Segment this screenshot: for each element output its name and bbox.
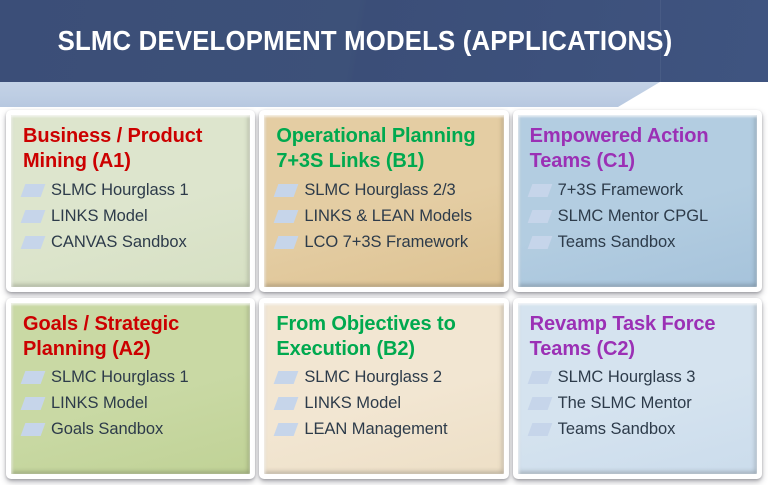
list-item[interactable]: LINKS & LEAN Models: [272, 203, 497, 229]
list-item-label: LINKS Model: [51, 207, 148, 226]
list-item-label: LINKS Model: [51, 394, 148, 413]
parallelogram-bullet-icon: [21, 236, 46, 249]
model-card-b2[interactable]: From Objectives to Execution (B2)SLMC Ho…: [259, 298, 508, 480]
list-item-label: LINKS & LEAN Models: [304, 207, 472, 226]
list-item-label: Teams Sandbox: [558, 420, 676, 439]
list-item-label: SLMC Hourglass 1: [51, 181, 189, 200]
card-bullet-list-c1: 7+3S FrameworkSLMC Mentor CPGLTeams Sand…: [526, 177, 751, 255]
model-card-b1[interactable]: Operational Planning 7+3S Links (B1)SLMC…: [259, 110, 508, 292]
model-card-c2[interactable]: Revamp Task Force Teams (C2)SLMC Hourgla…: [513, 298, 762, 480]
header-banner: SLMC DEVELOPMENT MODELS (APPLICATIONS): [0, 0, 768, 82]
list-item-label: The SLMC Mentor: [558, 394, 692, 413]
list-item[interactable]: LINKS Model: [19, 203, 244, 229]
card-bullet-list-a1: SLMC Hourglass 1LINKS ModelCANVAS Sandbo…: [19, 177, 244, 255]
parallelogram-bullet-icon: [274, 423, 299, 436]
model-card-c1[interactable]: Empowered Action Teams (C1)7+3S Framewor…: [513, 110, 762, 292]
parallelogram-bullet-icon: [21, 184, 46, 197]
card-body-a1: Business / Product Mining (A1)SLMC Hourg…: [11, 115, 250, 287]
list-item[interactable]: SLMC Hourglass 3: [526, 365, 751, 391]
model-card-a1[interactable]: Business / Product Mining (A1)SLMC Hourg…: [6, 110, 255, 292]
list-item-label: LCO 7+3S Framework: [304, 233, 468, 252]
card-bullet-list-a2: SLMC Hourglass 1LINKS ModelGoals Sandbox: [19, 365, 244, 443]
list-item-label: 7+3S Framework: [558, 181, 683, 200]
page-title: SLMC DEVELOPMENT MODELS (APPLICATIONS): [29, 0, 701, 82]
list-item[interactable]: SLMC Hourglass 2/3: [272, 177, 497, 203]
parallelogram-bullet-icon: [527, 423, 552, 436]
list-item-label: LEAN Management: [304, 420, 447, 439]
parallelogram-bullet-icon: [21, 397, 46, 410]
card-title-a2: Goals / Strategic Planning (A2): [23, 312, 244, 362]
parallelogram-bullet-icon: [21, 210, 46, 223]
parallelogram-bullet-icon: [274, 210, 299, 223]
card-body-c1: Empowered Action Teams (C1)7+3S Framewor…: [518, 115, 757, 287]
card-title-c1: Empowered Action Teams (C1): [530, 124, 751, 174]
card-title-c2: Revamp Task Force Teams (C2): [530, 312, 751, 362]
card-body-b1: Operational Planning 7+3S Links (B1)SLMC…: [264, 115, 503, 287]
list-item-label: SLMC Hourglass 1: [51, 368, 189, 387]
parallelogram-bullet-icon: [527, 236, 552, 249]
card-body-c2: Revamp Task Force Teams (C2)SLMC Hourgla…: [518, 303, 757, 475]
model-card-grid: Business / Product Mining (A1)SLMC Hourg…: [0, 110, 768, 485]
card-title-b1: Operational Planning 7+3S Links (B1): [276, 124, 497, 174]
parallelogram-bullet-icon: [21, 371, 46, 384]
list-item[interactable]: SLMC Hourglass 2: [272, 365, 497, 391]
list-item[interactable]: Teams Sandbox: [526, 229, 751, 255]
parallelogram-bullet-icon: [274, 371, 299, 384]
card-bullet-list-b1: SLMC Hourglass 2/3LINKS & LEAN ModelsLCO…: [272, 177, 497, 255]
list-item-label: SLMC Mentor CPGL: [558, 207, 709, 226]
list-item[interactable]: LINKS Model: [19, 391, 244, 417]
list-item[interactable]: LINKS Model: [272, 391, 497, 417]
parallelogram-bullet-icon: [527, 184, 552, 197]
card-title-b2: From Objectives to Execution (B2): [276, 312, 497, 362]
list-item[interactable]: SLMC Hourglass 1: [19, 177, 244, 203]
list-item[interactable]: SLMC Hourglass 1: [19, 365, 244, 391]
list-item-label: Teams Sandbox: [558, 233, 676, 252]
list-item-label: LINKS Model: [304, 394, 401, 413]
list-item[interactable]: SLMC Mentor CPGL: [526, 203, 751, 229]
list-item[interactable]: Goals Sandbox: [19, 417, 244, 443]
card-body-a2: Goals / Strategic Planning (A2)SLMC Hour…: [11, 303, 250, 475]
header-accent-band: [0, 82, 660, 107]
list-item[interactable]: The SLMC Mentor: [526, 391, 751, 417]
parallelogram-bullet-icon: [21, 423, 46, 436]
list-item-label: SLMC Hourglass 2/3: [304, 181, 455, 200]
parallelogram-bullet-icon: [527, 371, 552, 384]
list-item-label: Goals Sandbox: [51, 420, 163, 439]
parallelogram-bullet-icon: [527, 397, 552, 410]
parallelogram-bullet-icon: [274, 397, 299, 410]
list-item-label: SLMC Hourglass 2: [304, 368, 442, 387]
card-bullet-list-c2: SLMC Hourglass 3The SLMC MentorTeams San…: [526, 365, 751, 443]
card-bullet-list-b2: SLMC Hourglass 2LINKS ModelLEAN Manageme…: [272, 365, 497, 443]
card-body-b2: From Objectives to Execution (B2)SLMC Ho…: [264, 303, 503, 475]
list-item[interactable]: LEAN Management: [272, 417, 497, 443]
list-item[interactable]: LCO 7+3S Framework: [272, 229, 497, 255]
list-item[interactable]: 7+3S Framework: [526, 177, 751, 203]
list-item[interactable]: CANVAS Sandbox: [19, 229, 244, 255]
parallelogram-bullet-icon: [274, 236, 299, 249]
list-item-label: SLMC Hourglass 3: [558, 368, 696, 387]
parallelogram-bullet-icon: [527, 210, 552, 223]
model-card-a2[interactable]: Goals / Strategic Planning (A2)SLMC Hour…: [6, 298, 255, 480]
list-item-label: CANVAS Sandbox: [51, 233, 187, 252]
card-title-a1: Business / Product Mining (A1): [23, 124, 244, 174]
parallelogram-bullet-icon: [274, 184, 299, 197]
list-item[interactable]: Teams Sandbox: [526, 417, 751, 443]
